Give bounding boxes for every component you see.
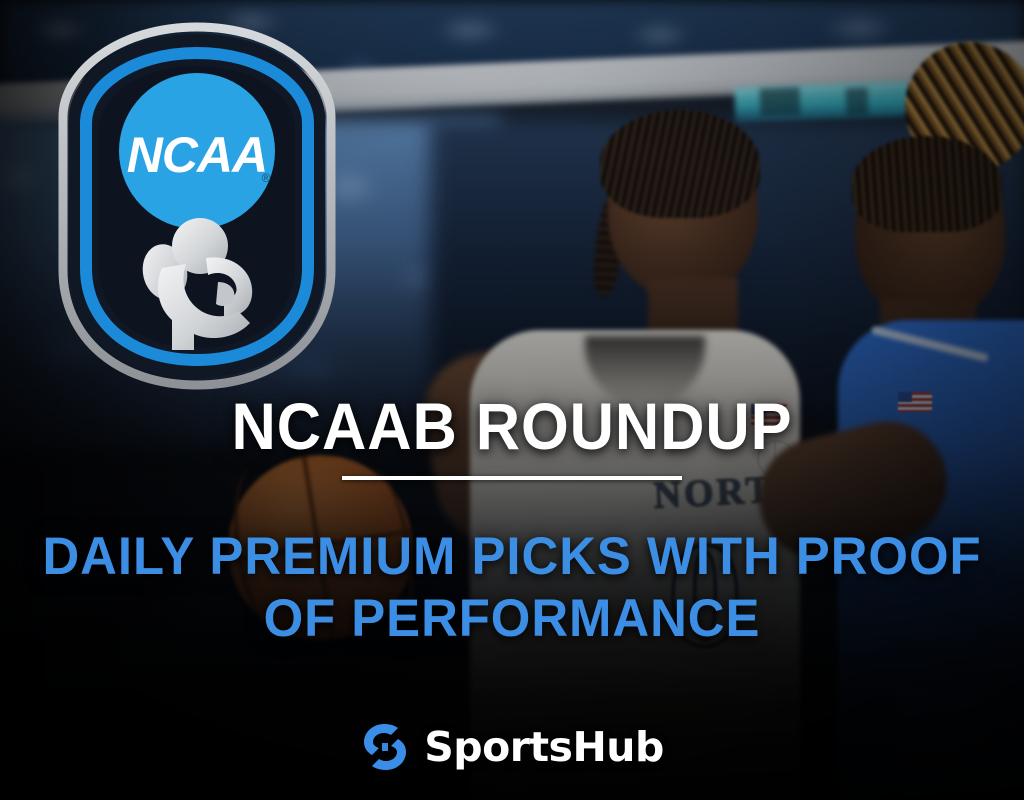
ncaa-shield-svg: NCAA ® — [54, 20, 340, 392]
ncaa-shield-logo: NCAA ® — [54, 20, 340, 392]
brand-lockup: SportsHub — [0, 716, 1024, 778]
ncaa-wordmark: NCAA — [127, 127, 267, 183]
title-divider — [342, 476, 682, 480]
subtitle-line-2: OF PERFORMANCE — [264, 589, 761, 648]
page-subtitle: DAILY PREMIUM PICKS WITH PROOF OF PERFOR… — [32, 526, 992, 650]
sportshub-chain-link-logo-icon — [360, 721, 410, 773]
brand-name: SportsHub — [424, 727, 664, 768]
ncaa-trademark: ® — [262, 171, 271, 185]
subtitle-line-1: DAILY PREMIUM PICKS WITH PROOF — [42, 527, 981, 586]
page-title: NCAAB ROUNDUP — [36, 393, 988, 459]
promo-banner: S NORTH 0 — [0, 0, 1024, 800]
